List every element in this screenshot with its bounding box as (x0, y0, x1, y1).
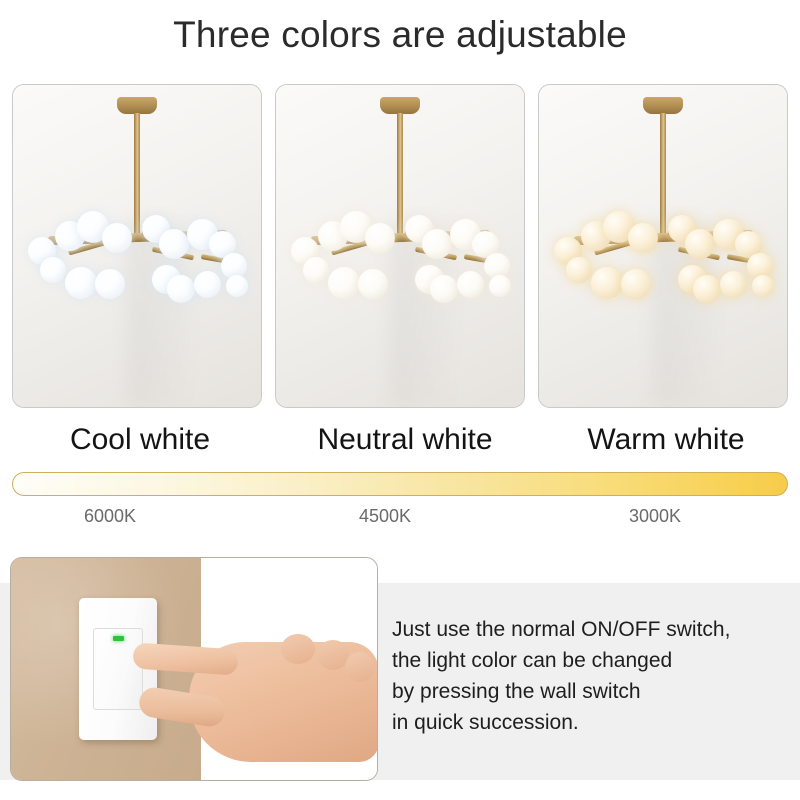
light-globe (752, 275, 774, 297)
light-globe (65, 267, 97, 299)
label-cool-white: Cool white (0, 420, 280, 460)
knuckle (281, 634, 315, 664)
light-globe (40, 257, 66, 283)
label-neutral-white: Neutral white (265, 420, 545, 460)
light-globe (358, 269, 388, 299)
light-globe (430, 275, 458, 303)
instruction-caption: Just use the normal ON/OFF switch, the l… (392, 614, 792, 738)
light-globe (720, 271, 747, 298)
label-warm-white: Warm white (535, 420, 797, 460)
drop-rod (134, 113, 140, 235)
chandelier-cool-white (13, 85, 261, 407)
light-globe (194, 271, 221, 298)
light-globe (693, 275, 721, 303)
ceiling-canopy (117, 97, 157, 114)
chandelier-neutral-white (276, 85, 524, 407)
kelvin-tick-4500k: 4500K (330, 502, 440, 530)
chandelier-warm-white (539, 85, 787, 407)
panel-card-neutral-white[interactable] (275, 84, 525, 408)
light-globe (365, 223, 395, 253)
wall-switch-photo[interactable] (10, 557, 378, 781)
light-globe (102, 223, 132, 253)
ceiling-canopy (380, 97, 420, 114)
light-globe (457, 271, 484, 298)
light-globe (489, 275, 511, 297)
light-globe (566, 257, 592, 283)
color-temperature-ticks: 6000K 4500K 3000K (0, 502, 800, 530)
light-globe (303, 257, 329, 283)
light-globe (628, 223, 658, 253)
color-temperature-gradient-bar (12, 472, 788, 496)
kelvin-tick-6000k: 6000K (55, 502, 165, 530)
knuckle (345, 652, 375, 682)
kelvin-tick-3000k: 3000K (600, 502, 710, 530)
caption-line-3: by pressing the wall switch (392, 676, 792, 707)
page-title: Three colors are adjustable (0, 6, 800, 64)
panel-card-warm-white[interactable] (538, 84, 788, 408)
light-globe (95, 269, 125, 299)
color-panels-row (12, 84, 788, 406)
hand-pressing-switch (131, 616, 378, 780)
drop-rod (660, 113, 666, 235)
ceiling-canopy (643, 97, 683, 114)
color-labels-row: Cool white Neutral white Warm white (0, 420, 800, 460)
light-globe (621, 269, 651, 299)
caption-line-2: the light color can be changed (392, 645, 792, 676)
drop-rod (397, 113, 403, 235)
light-globe (167, 275, 195, 303)
caption-line-1: Just use the normal ON/OFF switch, (392, 614, 792, 645)
light-globe (591, 267, 623, 299)
caption-line-4: in quick succession. (392, 707, 792, 738)
panel-card-cool-white[interactable] (12, 84, 262, 408)
led-indicator-icon (113, 636, 124, 641)
light-globe (328, 267, 360, 299)
light-globe (226, 275, 248, 297)
